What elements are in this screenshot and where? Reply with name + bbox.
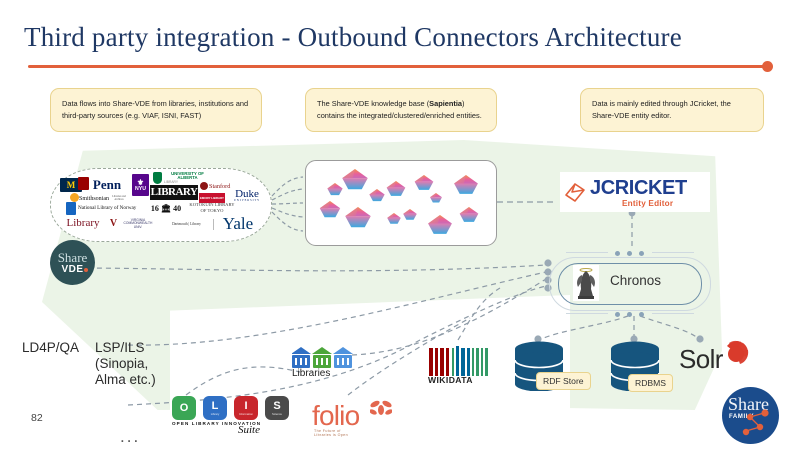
olis-sub-3: Science <box>272 412 282 416</box>
share-vde-badge: Share VDE <box>50 240 95 285</box>
olis-square-l: L Library <box>203 396 227 420</box>
callout-data-flows: Data flows into Share-VDE from libraries… <box>50 88 262 132</box>
olis-suite-script: Suite <box>238 424 260 436</box>
share-vde-badge-line2: VDE <box>61 265 83 275</box>
gem-cluster-icon <box>306 161 496 245</box>
folio-bee-icon <box>370 398 392 418</box>
logo-smithsonian-icon: SmithsonianLibraries and Archives <box>79 193 129 204</box>
slide-canvas: Third party integration - Outbound Conne… <box>0 0 800 450</box>
pencil-icon <box>563 180 587 204</box>
olis-letter-3: S <box>273 400 280 412</box>
folio-name: folio <box>312 400 359 431</box>
sapientia-gem-box <box>305 160 497 246</box>
lsp-ils-line-3: Alma etc.) <box>95 372 156 388</box>
olis-letter-2: I <box>244 400 247 412</box>
chronos-bottom-dots <box>615 312 644 317</box>
callout-2-text-before: The Share-VDE knowledge base ( <box>317 99 429 108</box>
network-nodes-icon <box>722 387 779 444</box>
logo-library-red-icon: Library <box>58 216 108 231</box>
solr-sunburst-icon <box>723 340 749 366</box>
chronos-top-left-line <box>566 252 608 253</box>
rdbms-label: RDBMS <box>628 374 673 392</box>
olis-sub-1: Library <box>211 412 220 416</box>
jcricket-logo: JCRICKET Entity Editor <box>560 172 710 212</box>
folio-logo: folio The Future of Libraries is Open <box>312 400 359 432</box>
chronos-top-dots <box>615 251 644 256</box>
share-vde-badge-line1: Share <box>58 251 88 264</box>
rdf-store-label: RDF Store <box>536 372 591 390</box>
olis-sub-2: Information <box>239 412 253 416</box>
logo-1640-icon: 16 🏛 40 <box>146 201 186 217</box>
logo-library-icon: LIBRARY <box>150 185 198 200</box>
callout-knowledge-base: The Share-VDE knowledge base (Sapientia)… <box>305 88 497 132</box>
chronos-statue-icon <box>573 265 599 301</box>
jcricket-subtitle: Entity Editor <box>622 199 673 208</box>
logo-yale-icon: Yale <box>215 213 261 233</box>
chronos-bottom-right-line <box>652 313 694 314</box>
logo-national-library-norway-icon: National Library of Norway <box>66 204 142 214</box>
olis-caption: OPEN LIBRARY INNOVATION <box>172 421 290 426</box>
source-lsp-ils-label: LSP/ILS (Sinopia, Alma etc.) <box>95 340 156 388</box>
olis-square-o: O <box>172 396 196 420</box>
slide-number: 82 <box>31 412 43 424</box>
logo-smithsonian-mark-icon <box>70 193 79 202</box>
callout-editor: Data is mainly edited through JCricket, … <box>580 88 764 132</box>
ellipsis-marker: ... <box>120 427 140 447</box>
olis-logo: O L Library I Information S Science OPEN… <box>172 396 290 430</box>
jcricket-name: JCRICKET <box>590 177 687 200</box>
wikidata-label: WIKIDATA <box>428 375 473 385</box>
solr-label: Solr <box>679 344 723 375</box>
chronos-label: Chronos <box>610 273 661 288</box>
logo-vcu-icon: VIRGINIA COMMONWEALTH UNIV. <box>108 218 156 230</box>
callout-2-bold: Sapientia <box>429 99 462 108</box>
olis-square-s: S Science <box>265 396 289 420</box>
share-family-badge: Share FAMILY <box>722 387 779 444</box>
title-divider-dot <box>762 61 773 72</box>
title-divider <box>28 65 770 68</box>
source-ld4p-qa-label: LD4P/QA <box>22 340 79 356</box>
lsp-ils-line-2: (Sinopia, <box>95 356 156 372</box>
libraries-label: Libraries <box>292 368 330 379</box>
olis-letter-1: L <box>212 400 219 412</box>
olis-square-i: I Information <box>234 396 258 420</box>
logo-nyu-icon: ⚜NYU <box>132 174 149 196</box>
logo-dartmouth-icon: Dartmouth | Library <box>160 219 214 230</box>
page-title: Third party integration - Outbound Conne… <box>24 22 780 53</box>
lsp-ils-line-1: LSP/ILS <box>95 340 156 356</box>
folio-tagline: The Future of Libraries is Open <box>314 429 359 437</box>
olis-letter-0: O <box>180 402 189 414</box>
chronos-top-right-line <box>652 252 694 253</box>
chronos-bottom-left-line <box>566 313 608 314</box>
logo-penn-icon: Penn <box>85 176 129 192</box>
library-logo-cloud: M Penn SmithsonianLibraries and Archives… <box>52 168 268 240</box>
share-vde-badge-dot-icon <box>84 268 88 272</box>
